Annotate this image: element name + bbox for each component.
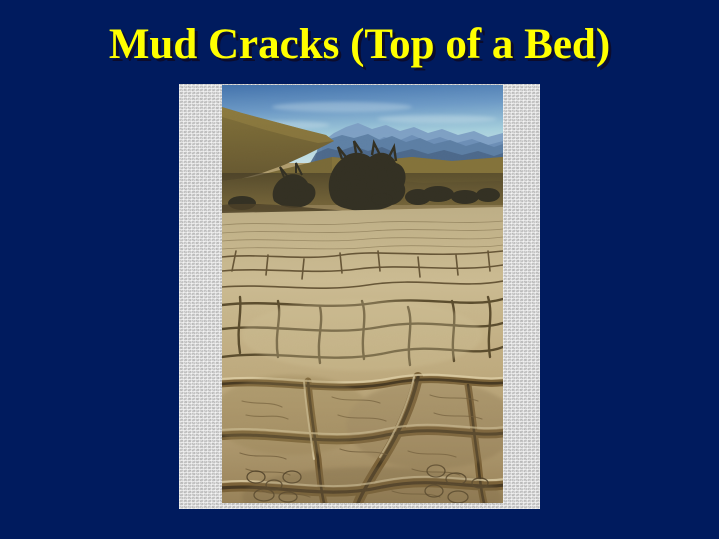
mud-cracks-photograph xyxy=(222,85,503,503)
page-title: Mud Cracks (Top of a Bed) xyxy=(0,20,719,70)
slide-canvas: Mud Cracks (Top of a Bed) xyxy=(0,0,719,539)
mud-cracks-illustration xyxy=(222,85,503,503)
photo-frame-mat xyxy=(179,84,540,509)
